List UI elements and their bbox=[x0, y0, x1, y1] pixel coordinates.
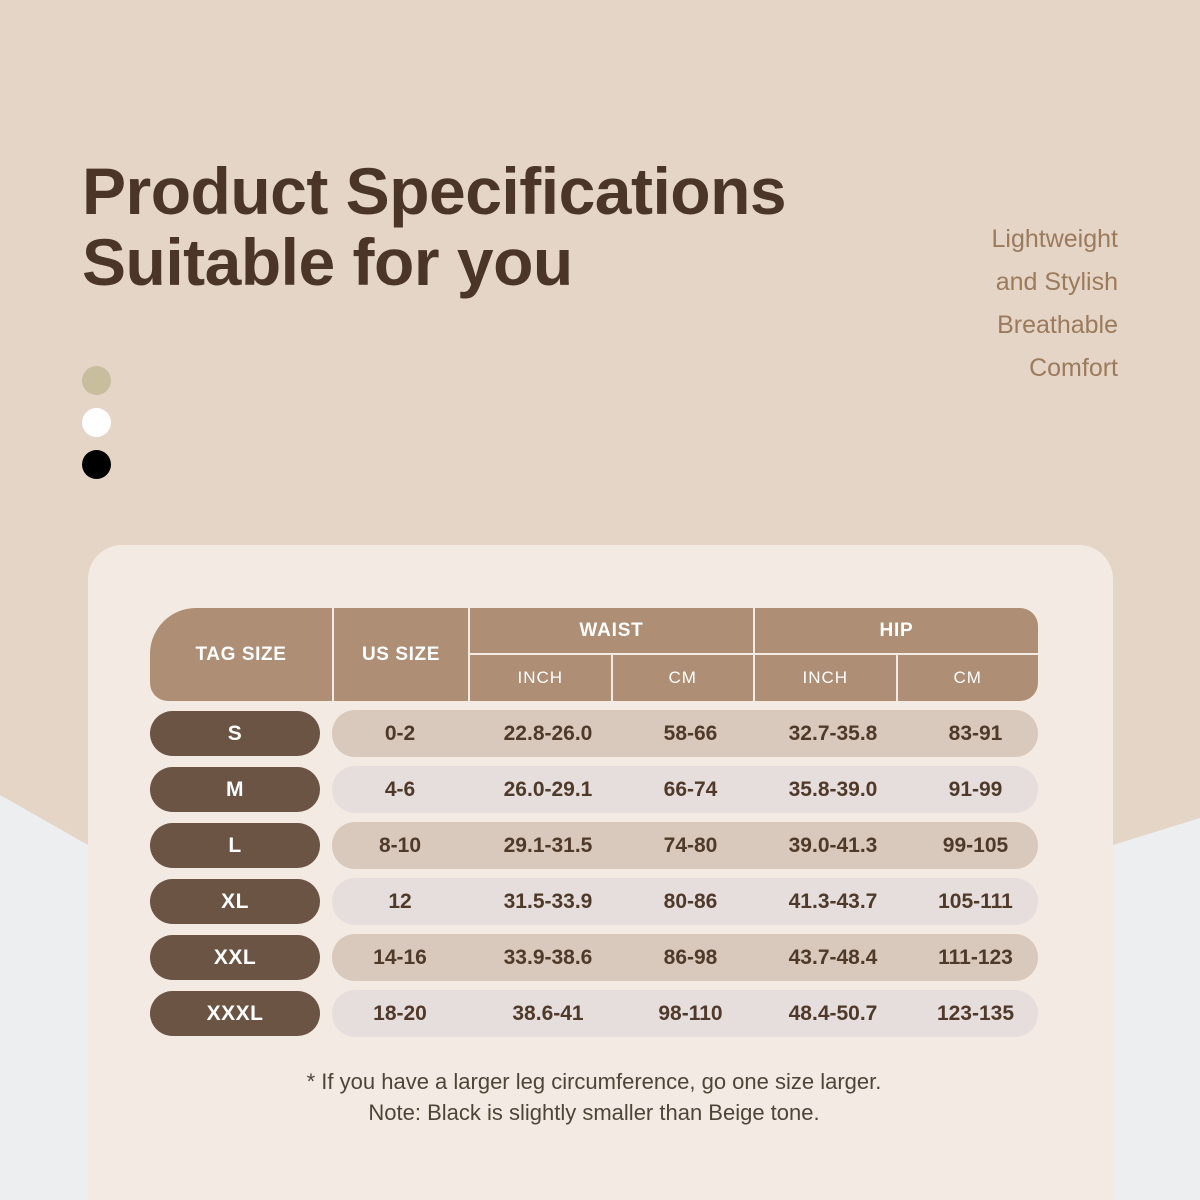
cell-us-size: 14-16 bbox=[332, 934, 468, 981]
cell-hip-inch: 48.4-50.7 bbox=[753, 990, 913, 1037]
tag-size-pill: XL bbox=[150, 879, 320, 924]
row-value-band: 14-1633.9-38.686-9843.7-48.4111-123 bbox=[332, 934, 1038, 981]
cell-waist-inch: 29.1-31.5 bbox=[468, 822, 628, 869]
feature-line-2: and Stylish bbox=[818, 261, 1118, 304]
feature-line-1: Lightweight bbox=[818, 218, 1118, 261]
cell-waist-inch: 33.9-38.6 bbox=[468, 934, 628, 981]
feature-highlights: Lightweight and Stylish Breathable Comfo… bbox=[818, 218, 1118, 390]
header-hip-group: HIP INCH CM bbox=[753, 608, 1038, 701]
cell-tag-size: XL bbox=[150, 878, 332, 925]
color-swatch-black[interactable] bbox=[82, 450, 111, 479]
color-swatch-white[interactable] bbox=[82, 408, 111, 437]
spec-sheet-page: Product Specifications Suitable for you … bbox=[0, 0, 1200, 1200]
cell-us-size: 8-10 bbox=[332, 822, 468, 869]
table-header-row: TAG SIZE US SIZE WAIST INCH CM HIP INCH … bbox=[150, 608, 1038, 701]
feature-line-4: Comfort bbox=[818, 347, 1118, 390]
footnote-line-2: Note: Black is slightly smaller than Bei… bbox=[150, 1097, 1038, 1128]
cell-hip-cm: 111-123 bbox=[913, 934, 1038, 981]
cell-tag-size: S bbox=[150, 710, 332, 757]
tag-size-pill: S bbox=[150, 711, 320, 756]
table-row: XXXL18-2038.6-4198-11048.4-50.7123-135 bbox=[150, 990, 1038, 1037]
cell-waist-cm: 98-110 bbox=[628, 990, 753, 1037]
cell-waist-inch: 22.8-26.0 bbox=[468, 710, 628, 757]
row-value-band: 18-2038.6-4198-11048.4-50.7123-135 bbox=[332, 990, 1038, 1037]
cell-hip-inch: 35.8-39.0 bbox=[753, 766, 913, 813]
footnotes: * If you have a larger leg circumference… bbox=[150, 1066, 1038, 1128]
page-title-line-1: Product Specifications bbox=[82, 156, 962, 227]
cell-hip-inch: 32.7-35.8 bbox=[753, 710, 913, 757]
tag-size-pill: L bbox=[150, 823, 320, 868]
tag-size-pill: M bbox=[150, 767, 320, 812]
header-waist-group: WAIST INCH CM bbox=[468, 608, 753, 701]
header-waist-label: WAIST bbox=[470, 608, 753, 655]
cell-hip-cm: 123-135 bbox=[913, 990, 1038, 1037]
color-swatch-list bbox=[82, 366, 111, 492]
table-row: XXL14-1633.9-38.686-9843.7-48.4111-123 bbox=[150, 934, 1038, 981]
cell-waist-cm: 58-66 bbox=[628, 710, 753, 757]
header-hip-inch: INCH bbox=[755, 655, 896, 701]
cell-hip-cm: 83-91 bbox=[913, 710, 1038, 757]
cell-hip-inch: 39.0-41.3 bbox=[753, 822, 913, 869]
table-row: M4-626.0-29.166-7435.8-39.091-99 bbox=[150, 766, 1038, 813]
table-row: XL1231.5-33.980-8641.3-43.7105-111 bbox=[150, 878, 1038, 925]
cell-hip-inch: 43.7-48.4 bbox=[753, 934, 913, 981]
table-body: S0-222.8-26.058-6632.7-35.883-91M4-626.0… bbox=[150, 710, 1038, 1037]
cell-hip-cm: 99-105 bbox=[913, 822, 1038, 869]
cell-waist-cm: 80-86 bbox=[628, 878, 753, 925]
cell-hip-cm: 91-99 bbox=[913, 766, 1038, 813]
table-row: L8-1029.1-31.574-8039.0-41.399-105 bbox=[150, 822, 1038, 869]
cell-us-size: 18-20 bbox=[332, 990, 468, 1037]
row-value-band: 8-1029.1-31.574-8039.0-41.399-105 bbox=[332, 822, 1038, 869]
row-value-band: 0-222.8-26.058-6632.7-35.883-91 bbox=[332, 710, 1038, 757]
cell-waist-inch: 26.0-29.1 bbox=[468, 766, 628, 813]
cell-hip-cm: 105-111 bbox=[913, 878, 1038, 925]
table-row: S0-222.8-26.058-6632.7-35.883-91 bbox=[150, 710, 1038, 757]
cell-waist-inch: 31.5-33.9 bbox=[468, 878, 628, 925]
cell-waist-cm: 66-74 bbox=[628, 766, 753, 813]
cell-tag-size: XXL bbox=[150, 934, 332, 981]
header-hip-label: HIP bbox=[755, 608, 1038, 655]
tag-size-pill: XXXL bbox=[150, 991, 320, 1036]
header-waist-cm: CM bbox=[611, 655, 754, 701]
row-value-band: 1231.5-33.980-8641.3-43.7105-111 bbox=[332, 878, 1038, 925]
cell-tag-size: L bbox=[150, 822, 332, 869]
header-us-size: US SIZE bbox=[332, 608, 468, 701]
size-chart-table: TAG SIZE US SIZE WAIST INCH CM HIP INCH … bbox=[150, 608, 1038, 1037]
row-value-band: 4-626.0-29.166-7435.8-39.091-99 bbox=[332, 766, 1038, 813]
cell-tag-size: M bbox=[150, 766, 332, 813]
header-tag-size: TAG SIZE bbox=[150, 608, 332, 701]
cell-hip-inch: 41.3-43.7 bbox=[753, 878, 913, 925]
cell-us-size: 0-2 bbox=[332, 710, 468, 757]
cell-us-size: 12 bbox=[332, 878, 468, 925]
color-swatch-beige[interactable] bbox=[82, 366, 111, 395]
footnote-line-1: * If you have a larger leg circumference… bbox=[150, 1066, 1038, 1097]
header-waist-inch: INCH bbox=[470, 655, 611, 701]
cell-us-size: 4-6 bbox=[332, 766, 468, 813]
cell-waist-cm: 86-98 bbox=[628, 934, 753, 981]
header-hip-cm: CM bbox=[896, 655, 1039, 701]
cell-tag-size: XXXL bbox=[150, 990, 332, 1037]
cell-waist-cm: 74-80 bbox=[628, 822, 753, 869]
cell-waist-inch: 38.6-41 bbox=[468, 990, 628, 1037]
tag-size-pill: XXL bbox=[150, 935, 320, 980]
feature-line-3: Breathable bbox=[818, 304, 1118, 347]
